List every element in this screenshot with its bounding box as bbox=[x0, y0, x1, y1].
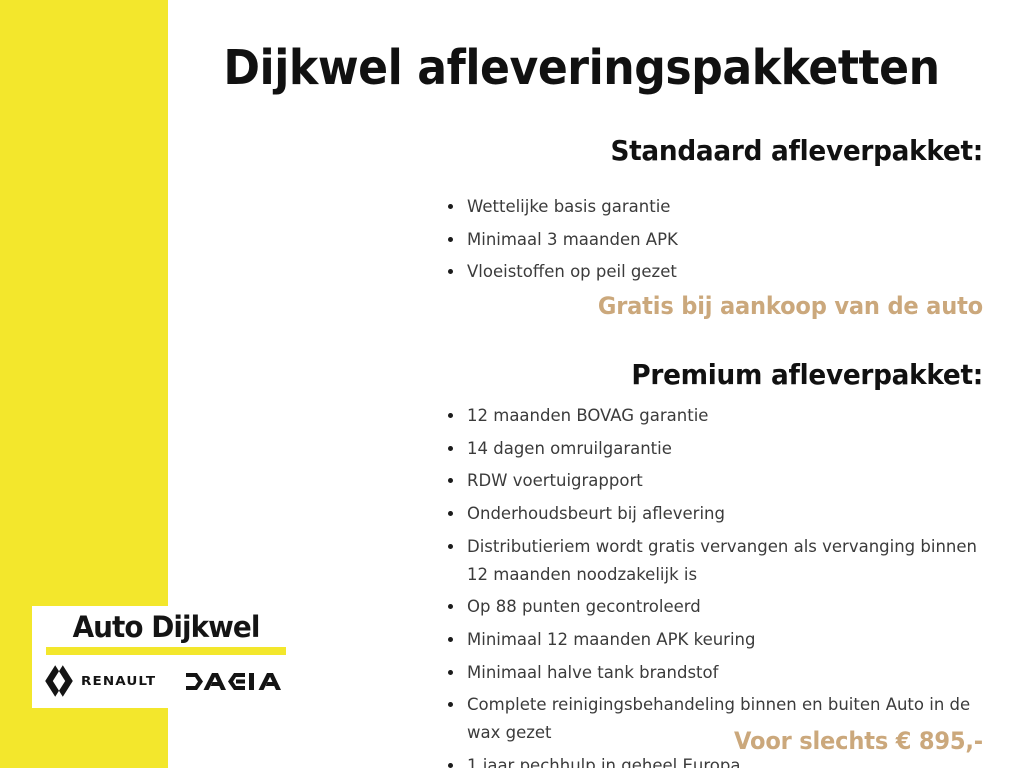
list-item-label: 1 jaar pechhulp in geheel Europa bbox=[467, 756, 740, 768]
list-item: Vloeistoffen op peil gezet bbox=[448, 258, 983, 286]
list-item-label: RDW voertuigrapport bbox=[467, 471, 643, 490]
list-item-label: 12 maanden BOVAG garantie bbox=[467, 406, 708, 425]
page-title: Dijkwel afleveringspakketten bbox=[212, 42, 951, 95]
renault-diamond-icon bbox=[44, 664, 74, 698]
brand-renault: RENAULT bbox=[44, 664, 156, 698]
list-item: Minimaal 3 maanden APK bbox=[448, 226, 983, 254]
section-heading-standaard: Standaard afleverpakket: bbox=[228, 135, 983, 167]
list-item: Distributieriem wordt gratis vervangen a… bbox=[448, 533, 983, 588]
brand-logo-row: RENAULT bbox=[42, 664, 290, 698]
list-item: Op 88 punten gecontroleerd bbox=[448, 593, 983, 621]
content-column: Dijkwel afleveringspakketten Standaard a… bbox=[180, 0, 983, 768]
logo-underline-bar bbox=[46, 647, 286, 655]
list-item: 14 dagen omruilgarantie bbox=[448, 435, 983, 463]
list-item-label: Wettelijke basis garantie bbox=[467, 197, 670, 216]
section-heading-premium: Premium afleverpakket: bbox=[228, 359, 983, 391]
slide-canvas: Dijkwel afleveringspakketten Standaard a… bbox=[0, 0, 1024, 768]
list-item-label: Op 88 punten gecontroleerd bbox=[467, 597, 701, 616]
list-item: Onderhoudsbeurt bij aflevering bbox=[448, 500, 983, 528]
list-item-label: Onderhoudsbeurt bij aflevering bbox=[467, 504, 725, 523]
feature-list-premium: 12 maanden BOVAG garantie 14 dagen omrui… bbox=[448, 402, 983, 768]
list-item-label: Minimaal 3 maanden APK bbox=[467, 230, 678, 249]
list-item: Minimaal 12 maanden APK keuring bbox=[448, 626, 983, 654]
list-item-label: 14 dagen omruilgarantie bbox=[467, 439, 672, 458]
list-item: RDW voertuigrapport bbox=[448, 467, 983, 495]
list-item: 12 maanden BOVAG garantie bbox=[448, 402, 983, 430]
list-item-label: Minimaal halve tank brandstof bbox=[467, 663, 718, 682]
list-item-label: Distributieriem wordt gratis vervangen a… bbox=[467, 537, 977, 584]
list-item: Wettelijke basis garantie bbox=[448, 193, 983, 221]
brand-renault-label: RENAULT bbox=[81, 674, 156, 689]
accent-text-gratis: Gratis bij aankoop van de auto bbox=[228, 292, 983, 321]
dacia-wordmark-icon bbox=[186, 673, 284, 690]
dealer-wordmark: Auto Dijkwel bbox=[47, 612, 285, 642]
feature-list-standaard: Wettelijke basis garantie Minimaal 3 maa… bbox=[448, 193, 983, 291]
dealer-logo-card: Auto Dijkwel RENAULT bbox=[32, 606, 300, 708]
list-item-label: Minimaal 12 maanden APK keuring bbox=[467, 630, 755, 649]
list-item-label: Vloeistoffen op peil gezet bbox=[467, 262, 677, 281]
accent-text-price: Voor slechts € 895,- bbox=[228, 727, 983, 756]
list-item: Minimaal halve tank brandstof bbox=[448, 659, 983, 687]
